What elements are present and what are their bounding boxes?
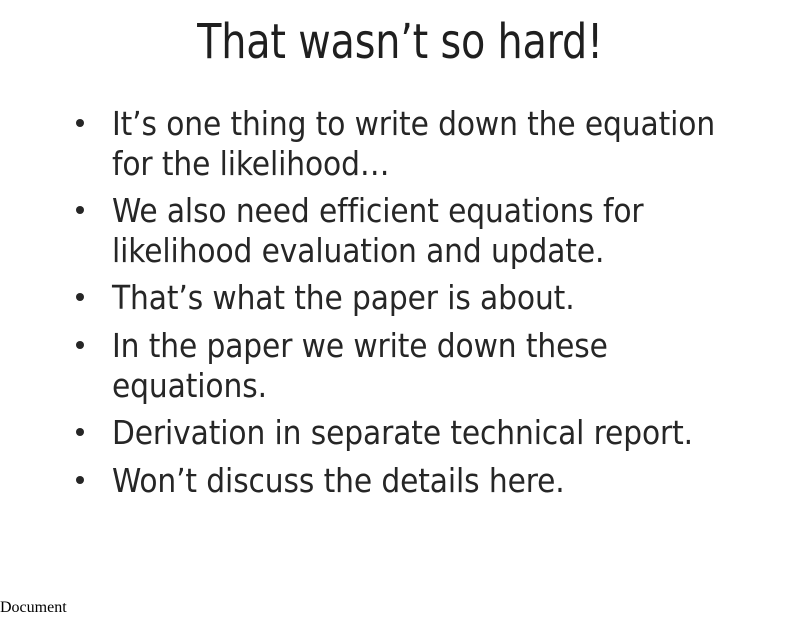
- bullet-dot-icon: [76, 206, 84, 214]
- list-item-text: Derivation in separate technical report.: [112, 413, 734, 453]
- list-item-line: likelihood evaluation and update.: [112, 231, 734, 271]
- slide-bullet-list: It’s one thing to write down the equatio…: [62, 104, 734, 501]
- list-item: It’s one thing to write down the equatio…: [62, 104, 734, 184]
- bullet-dot-icon: [76, 476, 84, 484]
- presentation-slide: That wasn’t so hard! It’s one thing to w…: [0, 0, 800, 599]
- list-item: We also need efficient equations forlike…: [62, 191, 734, 271]
- bullet-dot-icon: [76, 428, 84, 436]
- bullet-dot-icon: [76, 341, 84, 349]
- list-item-text: We also need efficient equations forlike…: [112, 191, 734, 271]
- list-item-line: It’s one thing to write down the equatio…: [112, 104, 734, 144]
- bullet-dot-icon: [76, 293, 84, 301]
- list-item: Won’t discuss the details here.: [62, 461, 734, 501]
- list-item-text: It’s one thing to write down the equatio…: [112, 104, 734, 184]
- list-item-line: That’s what the paper is about.: [112, 278, 734, 318]
- bullet-dot-icon: [76, 119, 84, 127]
- list-item-line: In the paper we write down these: [112, 326, 734, 366]
- list-item-line: for the likelihood…: [112, 144, 734, 184]
- list-item: That’s what the paper is about.: [62, 278, 734, 318]
- list-item-line: We also need efficient equations for: [112, 191, 734, 231]
- list-item: In the paper we write down theseequation…: [62, 326, 734, 406]
- list-item-line: equations.: [112, 366, 734, 406]
- list-item-text: That’s what the paper is about.: [112, 278, 734, 318]
- list-item-line: Derivation in separate technical report.: [112, 413, 734, 453]
- list-item-line: Won’t discuss the details here.: [112, 461, 734, 501]
- slide-title: That wasn’t so hard!: [69, 14, 731, 70]
- list-item: Derivation in separate technical report.: [62, 413, 734, 453]
- list-item-text: In the paper we write down theseequation…: [112, 326, 734, 406]
- list-item-text: Won’t discuss the details here.: [112, 461, 734, 501]
